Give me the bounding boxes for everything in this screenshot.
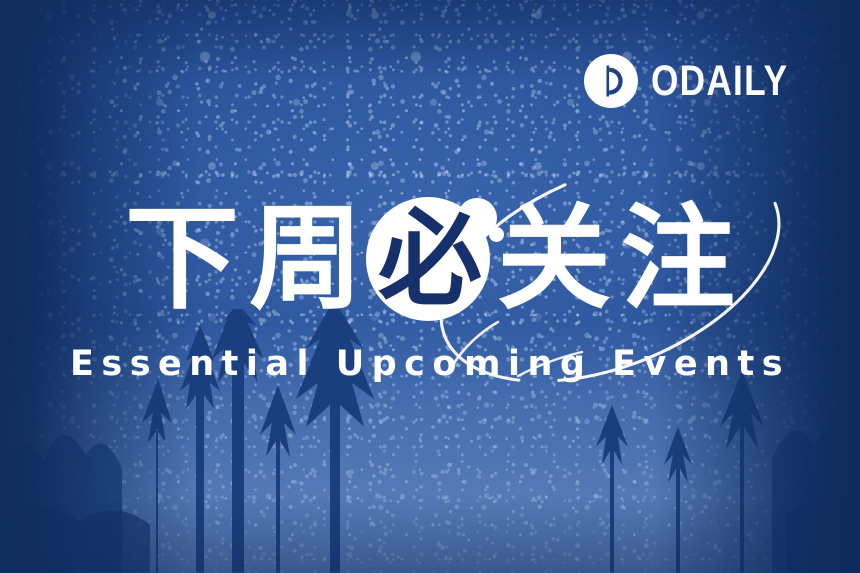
odaily-weekly-events-banner: ODAILY 下 周 必 关 注 Essential Upcoming Even… [0,0,860,573]
headline-char-1: 下 [122,202,242,316]
odaily-circle-p-icon [584,54,638,108]
headline-chinese: 下 周 必 关 注 [0,196,860,322]
headline-char-4: 关 [494,202,614,316]
headline-char-2: 周 [246,202,366,316]
subtitle-english: Essential Upcoming Events [0,344,860,384]
headline-char-5: 注 [618,202,738,316]
odaily-logo[interactable]: ODAILY [584,54,819,108]
headline-char-3: 必 [366,195,494,323]
headline-char-3-badge: 必 [366,195,494,323]
odaily-wordmark: ODAILY [651,60,788,103]
